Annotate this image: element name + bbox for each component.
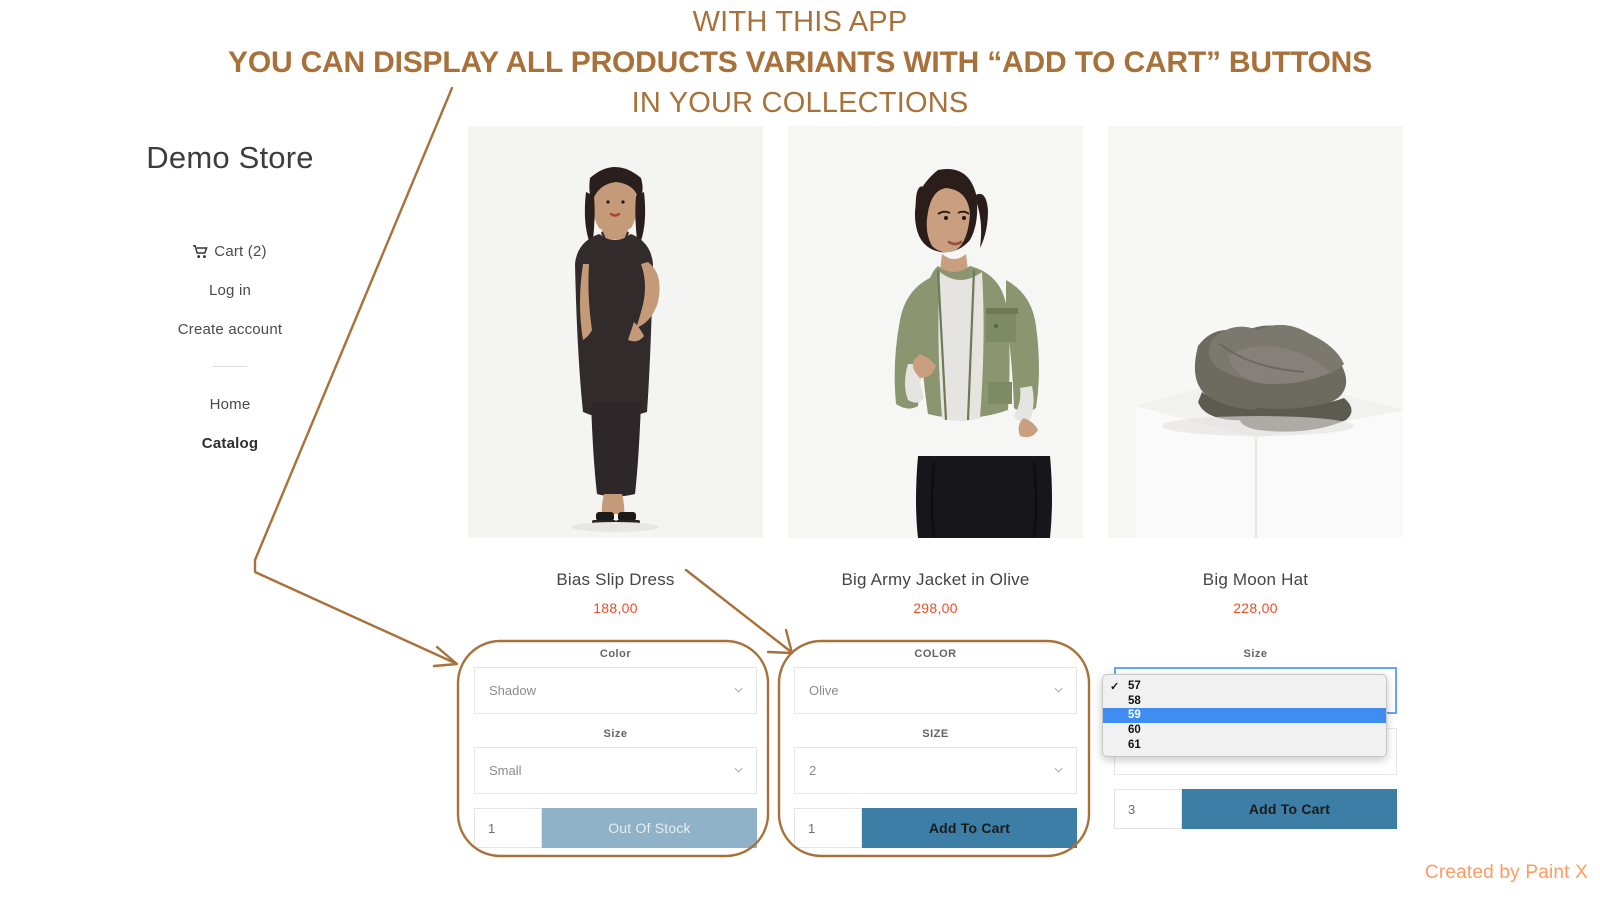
- product-price: 298,00: [788, 600, 1083, 616]
- product-image-big-moon-hat[interactable]: [1108, 126, 1403, 538]
- dropdown-option-59[interactable]: 59: [1103, 708, 1386, 723]
- out-of-stock-button: Out Of Stock: [542, 808, 757, 848]
- option-label-size: SIZE: [788, 728, 1083, 740]
- sidebar-item-create-account[interactable]: Create account: [130, 310, 330, 349]
- option-select-color[interactable]: Olive: [794, 667, 1077, 714]
- option-label-size: Size: [1108, 648, 1403, 660]
- check-icon: ✓: [1110, 680, 1128, 693]
- dropdown-option-57[interactable]: ✓ 57: [1103, 679, 1386, 694]
- product-price: 188,00: [468, 600, 763, 616]
- product-image-big-army-jacket[interactable]: [788, 126, 1083, 538]
- dropdown-option-61[interactable]: 61: [1103, 737, 1386, 752]
- sidebar-divider: [213, 366, 247, 367]
- variant-selectors: COLOR Olive SIZE 2 1 Add To Cart: [788, 648, 1083, 848]
- product-title[interactable]: Big Moon Hat: [1108, 570, 1403, 590]
- sidebar-item-catalog[interactable]: Catalog: [130, 424, 330, 463]
- option-select-size[interactable]: Small: [474, 747, 757, 794]
- variant-selectors: Color Shadow Size Small 1 Out Of St: [468, 648, 763, 848]
- chevron-down-icon: [734, 685, 743, 694]
- dropdown-option-60[interactable]: 60: [1103, 723, 1386, 738]
- product-card: Big Army Jacket in Olive 298,00 COLOR Ol…: [788, 126, 1083, 848]
- purchase-row: 3 Add To Cart: [1114, 789, 1397, 829]
- sidebar-item-home[interactable]: Home: [130, 385, 330, 424]
- quantity-input[interactable]: 1: [794, 808, 862, 848]
- quantity-input[interactable]: 3: [1114, 789, 1182, 829]
- screenshot-root: WITH THIS APP YOU CAN DISPLAY ALL PRODUC…: [0, 0, 1600, 900]
- chevron-down-icon: [734, 765, 743, 774]
- option-value-color: Shadow: [489, 683, 536, 698]
- annotation-arrow-1-head: [434, 647, 457, 666]
- option-label-size: Size: [468, 728, 763, 740]
- promo-line-2: YOU CAN DISPLAY ALL PRODUCTS VARIANTS WI…: [0, 46, 1600, 80]
- store-title: Demo Store: [130, 140, 330, 180]
- dropdown-option-label: 58: [1128, 695, 1141, 707]
- purchase-row: 1 Add To Cart: [794, 808, 1077, 848]
- option-label-color: Color: [468, 648, 763, 660]
- cart-label: Cart (2): [214, 243, 266, 260]
- sidebar-nav: Cart (2) Log in Create account Home Cata…: [130, 232, 330, 463]
- option-value-size: 2: [809, 763, 816, 778]
- promo-line-1: WITH THIS APP: [0, 6, 1600, 39]
- product-title[interactable]: Big Army Jacket in Olive: [788, 570, 1083, 590]
- sidebar: Demo Store Cart (2) Log in Create accoun…: [130, 140, 330, 463]
- product-image-bias-slip-dress[interactable]: [468, 126, 763, 538]
- purchase-row: 1 Out Of Stock: [474, 808, 757, 848]
- shopping-cart-icon: [193, 245, 208, 259]
- dropdown-option-label: 57: [1128, 680, 1141, 692]
- sidebar-item-cart[interactable]: Cart (2): [130, 232, 330, 271]
- dropdown-option-label: 59: [1128, 709, 1141, 721]
- add-to-cart-button[interactable]: Add To Cart: [1182, 789, 1397, 829]
- dropdown-option-label: 60: [1128, 724, 1141, 736]
- option-value-size: Small: [489, 763, 522, 778]
- product-card: Bias Slip Dress 188,00 Color Shadow Size…: [468, 126, 763, 848]
- option-label-color: COLOR: [788, 648, 1083, 660]
- annotation-arrow-1-run: [255, 560, 455, 663]
- sidebar-item-log-in[interactable]: Log in: [130, 271, 330, 310]
- dropdown-option-label: 61: [1128, 739, 1141, 751]
- chevron-down-icon: [1054, 765, 1063, 774]
- quantity-input[interactable]: 1: [474, 808, 542, 848]
- product-title[interactable]: Bias Slip Dress: [468, 570, 763, 590]
- dropdown-option-58[interactable]: 58: [1103, 694, 1386, 709]
- chevron-down-icon: [1054, 685, 1063, 694]
- option-select-color[interactable]: Shadow: [474, 667, 757, 714]
- promo-line-3: IN YOUR COLLECTIONS: [0, 87, 1600, 120]
- watermark: Created by Paint X: [1425, 862, 1588, 884]
- option-value-color: Olive: [809, 683, 839, 698]
- size-dropdown-menu[interactable]: ✓ 57 58 59 60 61: [1102, 674, 1387, 757]
- option-select-size[interactable]: 2: [794, 747, 1077, 794]
- product-price: 228,00: [1108, 600, 1403, 616]
- add-to-cart-button[interactable]: Add To Cart: [862, 808, 1077, 848]
